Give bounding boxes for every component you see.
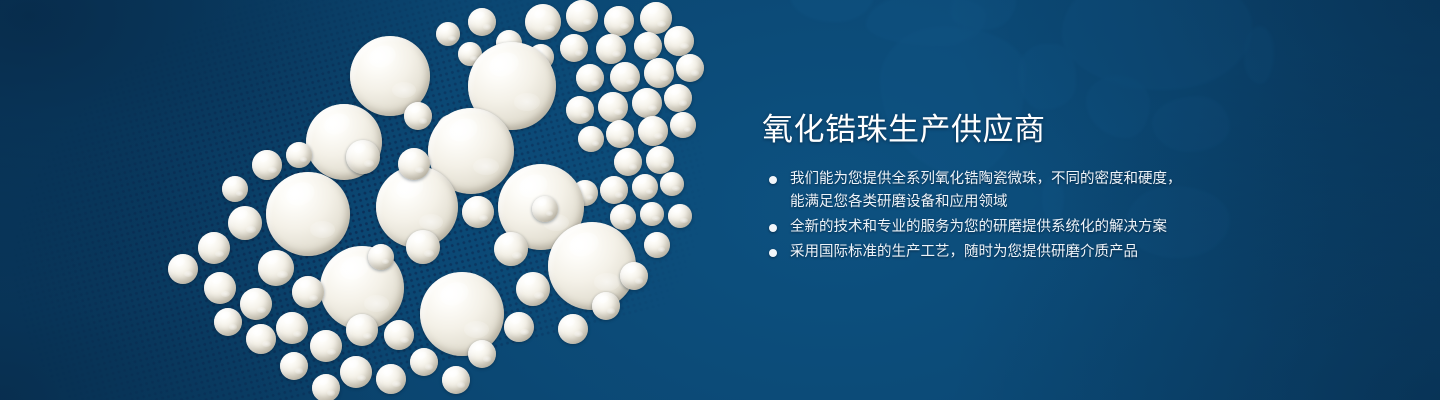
bullet-dot-icon xyxy=(769,224,777,232)
list-item: 采用国际标准的生产工艺，随时为您提供研磨介质产品 xyxy=(764,241,1182,264)
banner-text-block: 氧化锆珠生产供应商 我们能为您提供全系列氧化锆陶瓷微珠，不同的密度和硬度， 能满… xyxy=(762,0,1382,400)
list-item-line-1: 我们能为您提供全系列氧化锆陶瓷微珠，不同的密度和硬度， xyxy=(790,171,1182,187)
list-item: 我们能为您提供全系列氧化锆陶瓷微珠，不同的密度和硬度， 能满足您各类研磨设备和应… xyxy=(764,168,1182,214)
bullet-dot-icon xyxy=(769,176,777,184)
bullet-dot-icon xyxy=(769,249,777,257)
list-item-line-1: 采用国际标准的生产工艺，随时为您提供研磨介质产品 xyxy=(790,244,1138,260)
list-item-line-1: 全新的技术和专业的服务为您的研磨提供系统化的解决方案 xyxy=(790,219,1167,235)
page-title: 氧化锆珠生产供应商 xyxy=(762,110,1046,150)
feature-list: 我们能为您提供全系列氧化锆陶瓷微珠，不同的密度和硬度， 能满足您各类研磨设备和应… xyxy=(764,168,1182,266)
hero-banner: 氧化锆珠生产供应商 我们能为您提供全系列氧化锆陶瓷微珠，不同的密度和硬度， 能满… xyxy=(0,0,1440,400)
list-item: 全新的技术和专业的服务为您的研磨提供系统化的解决方案 xyxy=(764,216,1182,239)
list-item-line-2: 能满足您各类研磨设备和应用领域 xyxy=(790,191,1182,214)
